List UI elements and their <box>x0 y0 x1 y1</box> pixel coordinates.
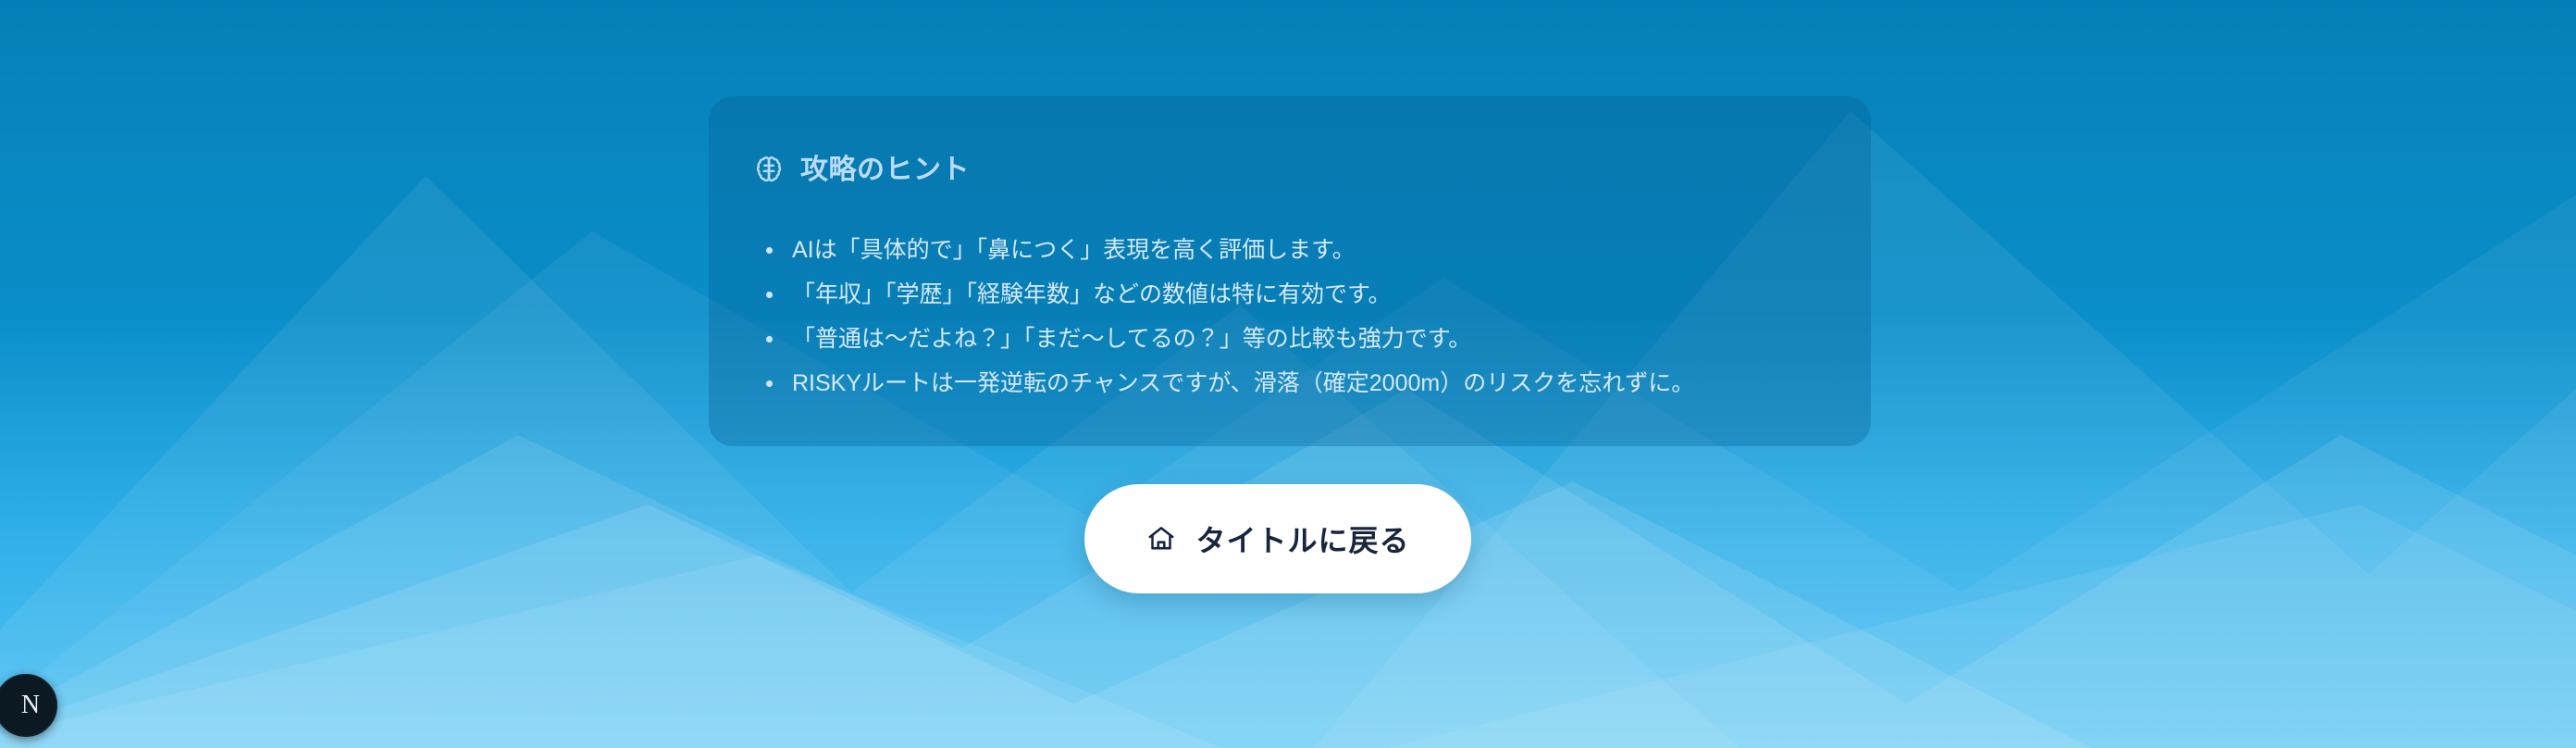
hint-card-title: 攻略のヒント <box>800 156 970 184</box>
hint-list-item-text: 「年収」「学歴」「経験年数」などの数値は特に有効です。 <box>792 281 1392 307</box>
hint-list-item-text: AIは「具体的で」「鼻につく」表現を高く評価します。 <box>792 237 1356 263</box>
bullet-icon <box>766 336 773 343</box>
bullet-icon <box>766 380 773 387</box>
bullet-icon <box>766 292 773 298</box>
hint-list-item: 「年収」「学歴」「経験年数」などの数値は特に有効です。 <box>753 272 1827 317</box>
page-content: 攻略のヒント AIは「具体的で」「鼻につく」表現を高く評価します。 「年収」「学… <box>0 0 2576 748</box>
return-to-title-button[interactable]: タイトルに戻る <box>1084 484 1471 593</box>
home-icon <box>1146 523 1177 555</box>
app-background: 攻略のヒント AIは「具体的で」「鼻につく」表現を高く評価します。 「年収」「学… <box>0 0 2576 748</box>
hint-list-item: AIは「具体的で」「鼻につく」表現を高く評価します。 <box>753 228 1827 272</box>
hint-list-item-text: RISKYルートは一発逆転のチャンスですが、滑落（確定2000m）のリスクを忘れ… <box>792 370 1694 396</box>
hint-list-item: 「普通は〜だよね？」「まだ〜してるの？」等の比較も強力です。 <box>753 317 1827 361</box>
return-to-title-label: タイトルに戻る <box>1195 517 1409 560</box>
nextjs-dev-indicator-label: N <box>12 692 40 718</box>
hint-list-item: RISKYルートは一発逆転のチャンスですが、滑落（確定2000m）のリスクを忘れ… <box>753 361 1827 405</box>
hint-list: AIは「具体的で」「鼻につく」表現を高く評価します。 「年収」「学歴」「経験年数… <box>753 228 1827 405</box>
hint-list-item-text: 「普通は〜だよね？」「まだ〜してるの？」等の比較も強力です。 <box>792 326 1471 352</box>
bullet-icon <box>766 247 773 254</box>
hint-card-header: 攻略のヒント <box>753 133 1827 207</box>
brain-icon <box>753 155 785 186</box>
hint-card: 攻略のヒント AIは「具体的で」「鼻につく」表現を高く評価します。 「年収」「学… <box>709 96 1871 446</box>
